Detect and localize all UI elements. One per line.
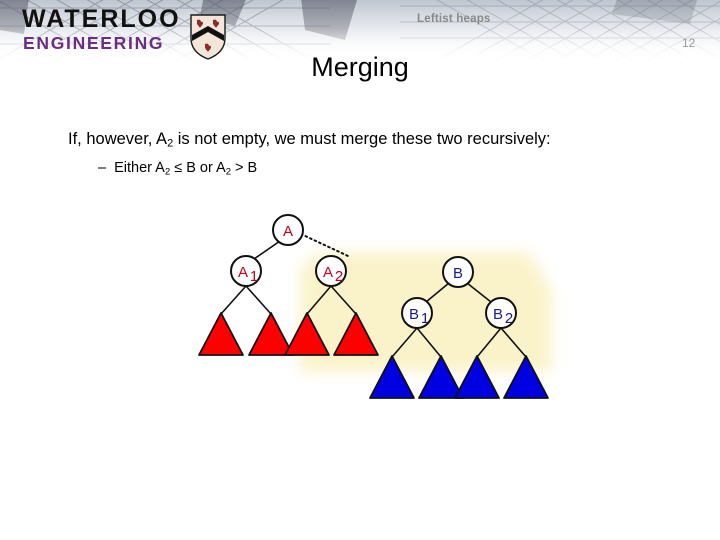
edge-a-a1: [254, 241, 280, 259]
node-a2-subscript: 2: [335, 268, 343, 285]
leaf-triangle-red-1: [199, 313, 243, 355]
leaf-triangle-red-2: [249, 313, 293, 355]
node-a-label: A: [283, 223, 293, 240]
node-b: B: [443, 257, 473, 287]
node-b-label: B: [453, 265, 463, 282]
node-a1-label: A: [238, 264, 248, 281]
edge-a1-leaf1: [221, 286, 246, 314]
node-b1-subscript: 1: [421, 310, 429, 327]
tree-a-nodes: A A 1 A 2: [231, 215, 346, 286]
node-a2-label: A: [323, 264, 333, 281]
node-b1-label: B: [409, 306, 419, 323]
node-a1: A 1: [231, 256, 261, 286]
node-b2: B 2: [486, 298, 516, 328]
node-a1-subscript: 1: [250, 268, 258, 285]
node-a: A: [273, 215, 303, 245]
node-b1: B 1: [402, 298, 432, 328]
edge-a1-leaf2: [246, 286, 271, 314]
node-b2-label: B: [493, 306, 503, 323]
node-a2: A 2: [316, 256, 346, 286]
node-b2-subscript: 2: [505, 310, 513, 327]
leftist-heap-merge-diagram: A A 1 A 2 B B 1 B 2: [0, 0, 720, 540]
